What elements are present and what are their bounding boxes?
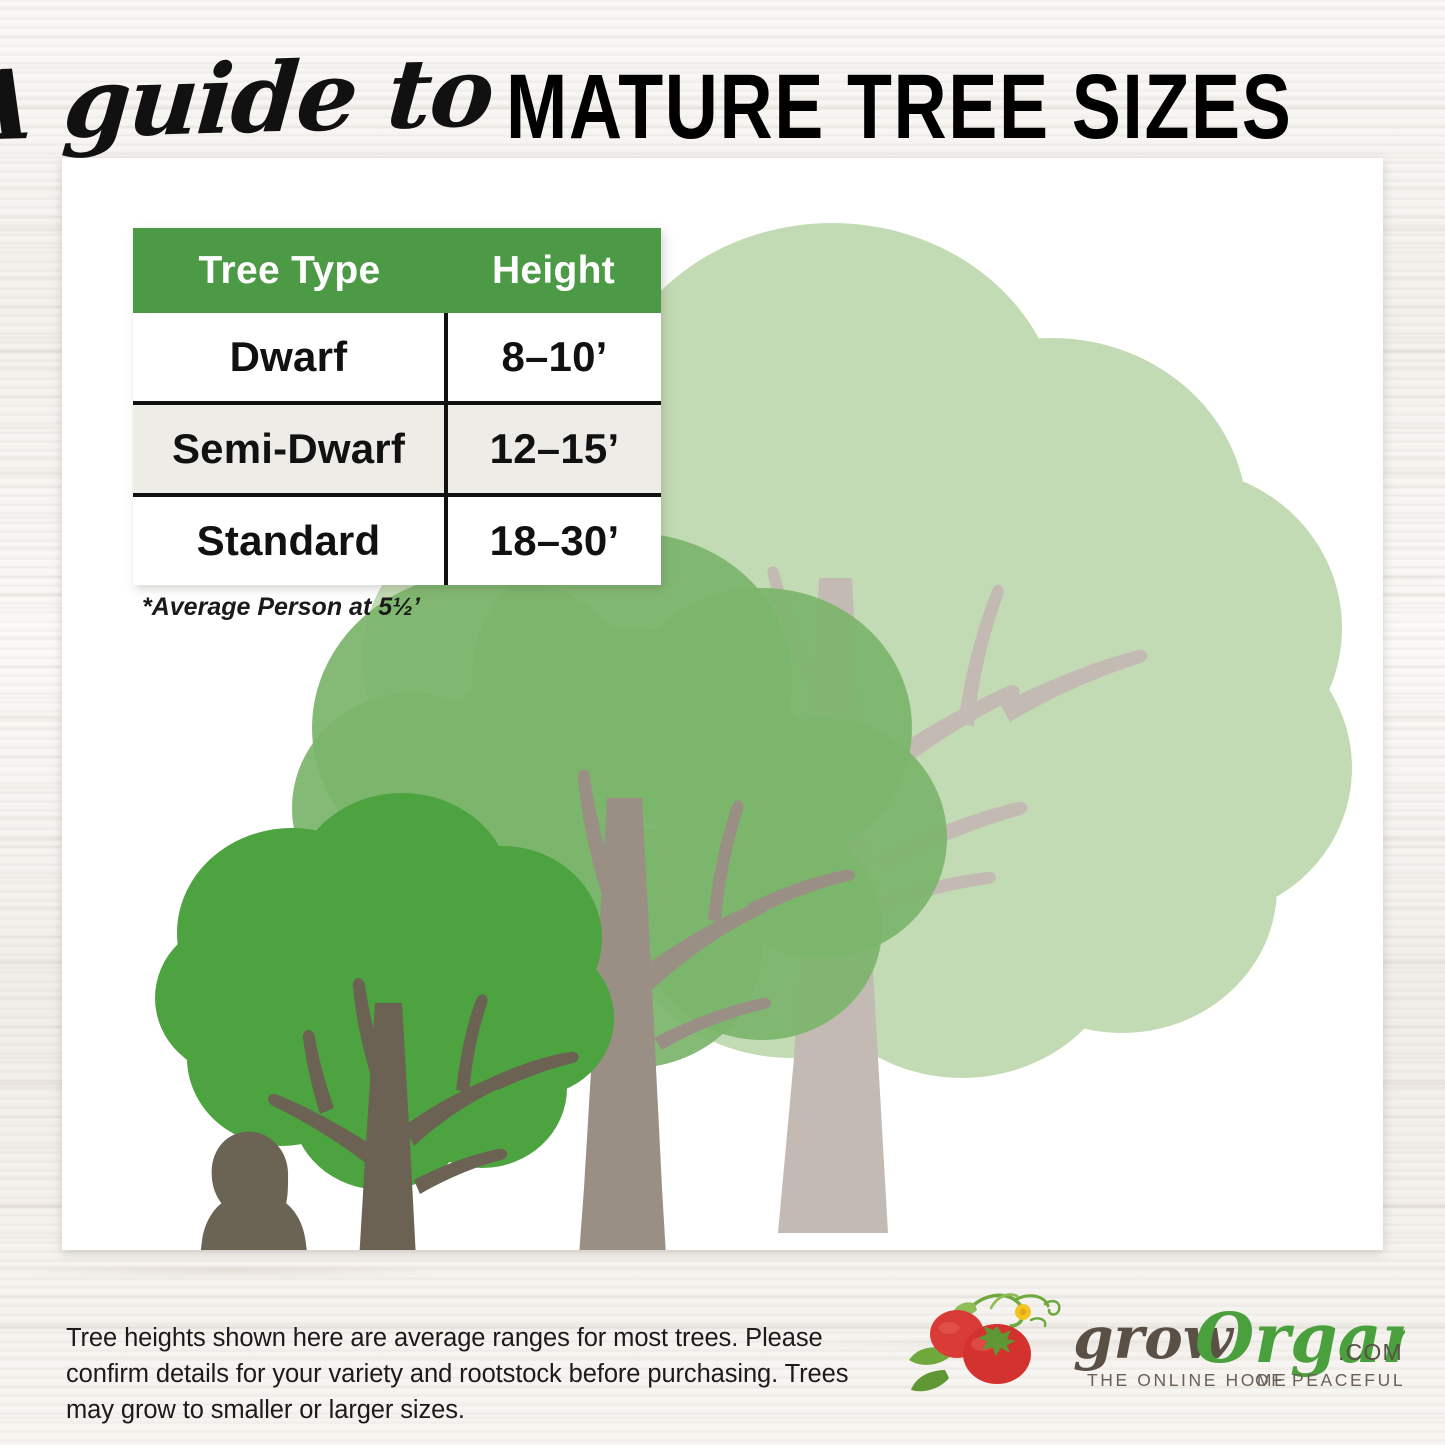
column-header-height: Height [446, 228, 661, 313]
logo-tagline-2: OF PEACEFUL VALLEY [1255, 1370, 1405, 1390]
footnote-average-person: *Average Person at 5½’ [142, 593, 420, 622]
cell-height: 12–15’ [446, 403, 661, 495]
average-person-silhouette [188, 1132, 320, 1250]
column-header-tree-type: Tree Type [133, 228, 446, 313]
infographic-root: A guide to MATURE TREE SIZES [0, 0, 1445, 1445]
table-row: Standard 18–30’ [133, 495, 661, 585]
page-title: A guide to MATURE TREE SIZES [0, 52, 1445, 162]
grow-organic-logo[interactable]: grow Organic .COM THE ONLINE HOME OF PEA… [905, 1286, 1405, 1411]
cell-tree-type: Standard [133, 495, 446, 585]
infographic-card: Tree Type Height Dwarf 8–10’ Semi-Dwarf … [62, 158, 1383, 1250]
table-row: Dwarf 8–10’ [133, 313, 661, 403]
cell-tree-type: Dwarf [133, 313, 446, 403]
disclaimer-text: Tree heights shown here are average rang… [66, 1320, 896, 1429]
table-header-row: Tree Type Height [133, 228, 661, 313]
logo-word-com: .COM [1338, 1339, 1403, 1365]
cell-tree-type: Semi-Dwarf [133, 403, 446, 495]
table-body: Dwarf 8–10’ Semi-Dwarf 12–15’ Standard 1… [133, 313, 661, 585]
table-header: Tree Type Height [133, 228, 661, 313]
cell-height: 18–30’ [446, 495, 661, 585]
footer: Tree heights shown here are average rang… [0, 1258, 1445, 1445]
table-row: Semi-Dwarf 12–15’ [133, 403, 661, 495]
title-block-text: MATURE TREE SIZES [506, 61, 1292, 153]
title-script-text: A guide to [0, 44, 496, 155]
tree-size-table: Tree Type Height Dwarf 8–10’ Semi-Dwarf … [133, 228, 661, 585]
cell-height: 8–10’ [446, 313, 661, 403]
